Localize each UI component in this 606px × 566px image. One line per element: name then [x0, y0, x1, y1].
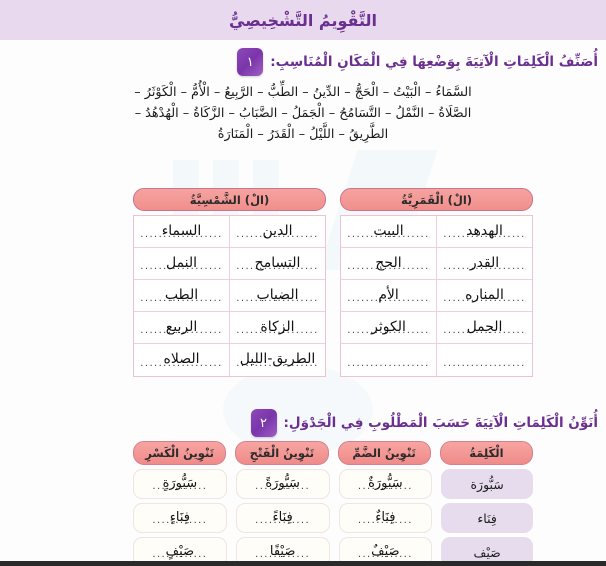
word-cell: سَبُّورَة [441, 469, 533, 499]
answer-cell[interactable]: ..................النمل [134, 248, 229, 279]
handwritten-answer: الطريق-الليل [240, 351, 316, 367]
tanween-damm-cell[interactable]: ............فِنَاءٌ [339, 503, 433, 533]
answer-cell[interactable]: ..................البيت [341, 216, 436, 247]
table-row: فِنَاء............فِنَاءٌ............فِن… [133, 503, 533, 533]
handwritten-answer: القدر [470, 255, 499, 271]
answer-cell[interactable]: ..................الهدهد [436, 216, 532, 247]
header-shamsiyya: (الْ) الشَّمْسِيَّةُ [133, 188, 326, 211]
table-row: ..................الدين.................… [134, 216, 325, 248]
header-qamariyya: (الْ) الْقَمَرِيَّةُ [340, 188, 533, 211]
answer-cell[interactable]: ..................التسامح [229, 248, 325, 279]
answer-cell[interactable]: ..................السماء [134, 216, 229, 247]
table-row: ..................الضباب................… [134, 280, 325, 312]
question-1-text: أُصَنِّفُ الْكَلِمَاتِ الْآتِيَةَ بِوَضْ… [270, 54, 598, 70]
handwritten-answer: سَبُّورَةٌ [368, 476, 403, 491]
table-row: سَبُّورَة............سَبُّورَةٌ.........… [133, 469, 533, 499]
tanween-header-2: تَنْوِينُ الْفَتْحِ [235, 441, 328, 465]
handwritten-answer: سَبُّورَةً [265, 476, 300, 491]
tanween-header-1: تَنْوِينُ الضَّمِّ [338, 441, 431, 465]
handwritten-answer: التسامح [255, 255, 301, 271]
tanween-kasr-cell[interactable]: ............فِنَاءٍ [133, 503, 227, 533]
handwritten-answer: البيت [373, 223, 403, 239]
table-row: ..................التسامح...............… [134, 248, 325, 280]
handwritten-answer: الجمل [467, 319, 503, 335]
page-title-band: التَّقْوِيمُ التَّشْخِيصِيُّ [0, 0, 606, 40]
classification-table: (الْ) الْقَمَرِيَّةُ (الْ) الشَّمْسِيَّة… [133, 188, 533, 377]
table-row: ..................الهدهد................… [341, 216, 532, 248]
handwritten-answer: صَيْفٌ [371, 544, 399, 559]
word-bank: السَّمَاءُ – الْبَيْتُ – الْحَجُّ – الدِ… [14, 82, 592, 145]
answer-cell[interactable]: ..................الطب [134, 280, 229, 311]
table-row: ..................الجمل.................… [341, 312, 532, 344]
handwritten-answer: الضباب [257, 287, 299, 303]
answer-cell[interactable]: ..................الحج [341, 248, 436, 279]
word-bank-line: الصَّلَاةُ – النَّمْلُ – التَّسَامُحُ – … [14, 103, 592, 124]
question-2-badge: ٢ [251, 409, 277, 437]
word-cell: فِنَاء [441, 503, 533, 533]
dotted-line: .................. [441, 359, 528, 369]
answer-cell[interactable]: ..................المناره [436, 280, 532, 311]
answer-cell[interactable]: ..................الزكاة [229, 312, 325, 343]
tanween-table-body: سَبُّورَة............سَبُّورَةٌ.........… [133, 469, 533, 566]
answer-cell[interactable]: ..................الضباب [229, 280, 325, 311]
table-row: ..................الطريق-الليل..........… [134, 344, 325, 376]
tanween-damm-cell[interactable]: ............سَبُّورَةٌ [339, 469, 433, 499]
handwritten-answer: الحج [375, 255, 401, 271]
answer-cell[interactable]: ..................القدر [436, 248, 532, 279]
tanween-header-3: تَنْوِينُ الْكَسْرِ [133, 441, 226, 465]
table-row: ..................القدر.................… [341, 248, 532, 280]
handwritten-answer: الصلاه [164, 351, 200, 367]
handwritten-answer: النمل [166, 255, 197, 271]
answer-cell[interactable]: ..................الجمل [436, 312, 532, 343]
tanween-table-headers: الْكَلِمَةُتَنْوِينُ الضَّمِّتَنْوِينُ ا… [133, 441, 533, 465]
word-bank-line: السَّمَاءُ – الْبَيْتُ – الْحَجُّ – الدِ… [14, 82, 592, 103]
handwritten-answer: سَبُّورَةٍ [163, 476, 198, 491]
answer-cell[interactable]: .................. [341, 344, 436, 376]
tanween-fath-cell[interactable]: ............سَبُّورَةً [236, 469, 330, 499]
answer-cell[interactable]: ..................الطريق-الليل [229, 344, 325, 376]
word-bank-line: الطَّرِيقُ – اللَّيْلُ – الْقَدَرُ – الْ… [14, 124, 592, 145]
handwritten-answer: الزكاة [260, 319, 294, 335]
handwritten-answer: الربيع [166, 319, 197, 335]
answer-cell[interactable]: ..................الصلاه [134, 344, 229, 376]
handwritten-answer: صَيْفٍ [166, 544, 194, 559]
grid-shamsiyya: ..................الدين.................… [133, 215, 326, 377]
handwritten-answer: الهدهد [466, 223, 503, 239]
tanween-table: الْكَلِمَةُتَنْوِينُ الضَّمِّتَنْوِينُ ا… [133, 441, 533, 566]
tanween-kasr-cell[interactable]: ............سَبُّورَةٍ [133, 469, 227, 499]
handwritten-answer: فِنَاءً [273, 510, 293, 525]
classification-table-headers: (الْ) الْقَمَرِيَّةُ (الْ) الشَّمْسِيَّة… [133, 188, 533, 211]
table-row: ..................الزكاة................… [134, 312, 325, 344]
tanween-header-0: الْكَلِمَةُ [440, 441, 533, 465]
classification-table-grids: ..................الهدهد................… [133, 215, 533, 377]
table-row: .................................... [341, 344, 532, 376]
answer-cell[interactable]: ..................الدين [229, 216, 325, 247]
question-1-header: أُصَنِّفُ الْكَلِمَاتِ الْآتِيَةَ بِوَضْ… [237, 48, 598, 76]
dotted-line: .................. [345, 359, 432, 369]
question-2-header: أُنَوِّنُ الْكَلِمَاتِ الْآتِيَةَ حَسَبَ… [251, 409, 599, 437]
handwritten-answer: صَيْفًا [270, 544, 296, 559]
table-row: ..................المناره...............… [341, 280, 532, 312]
grid-qamariyya: ..................الهدهد................… [340, 215, 533, 377]
bottom-edge-bar [0, 561, 606, 566]
tanween-fath-cell[interactable]: ............فِنَاءً [236, 503, 330, 533]
page-title: التَّقْوِيمُ التَّشْخِيصِيُّ [229, 11, 377, 30]
handwritten-answer: الدين [262, 223, 292, 239]
answer-cell[interactable]: ..................الربيع [134, 312, 229, 343]
handwritten-answer: الكوثر [371, 319, 406, 335]
handwritten-answer: فِنَاءٌ [375, 510, 395, 525]
answer-cell[interactable]: ..................الكوثر [341, 312, 436, 343]
handwritten-answer: الطب [165, 287, 198, 303]
answer-cell[interactable]: ..................الأم [341, 280, 436, 311]
handwritten-answer: فِنَاءٍ [170, 510, 190, 525]
handwritten-answer: الأم [378, 287, 399, 303]
question-2-text: أُنَوِّنُ الْكَلِمَاتِ الْآتِيَةَ حَسَبَ… [284, 415, 599, 431]
question-1-badge: ١ [237, 48, 263, 76]
answer-cell[interactable]: .................. [436, 344, 532, 376]
worksheet-page: التَّقْوِيمُ التَّشْخِيصِيُّ أُصَنِّفُ ا… [0, 0, 606, 566]
handwritten-answer: المناره [465, 287, 504, 303]
handwritten-answer: السماء [162, 223, 202, 239]
